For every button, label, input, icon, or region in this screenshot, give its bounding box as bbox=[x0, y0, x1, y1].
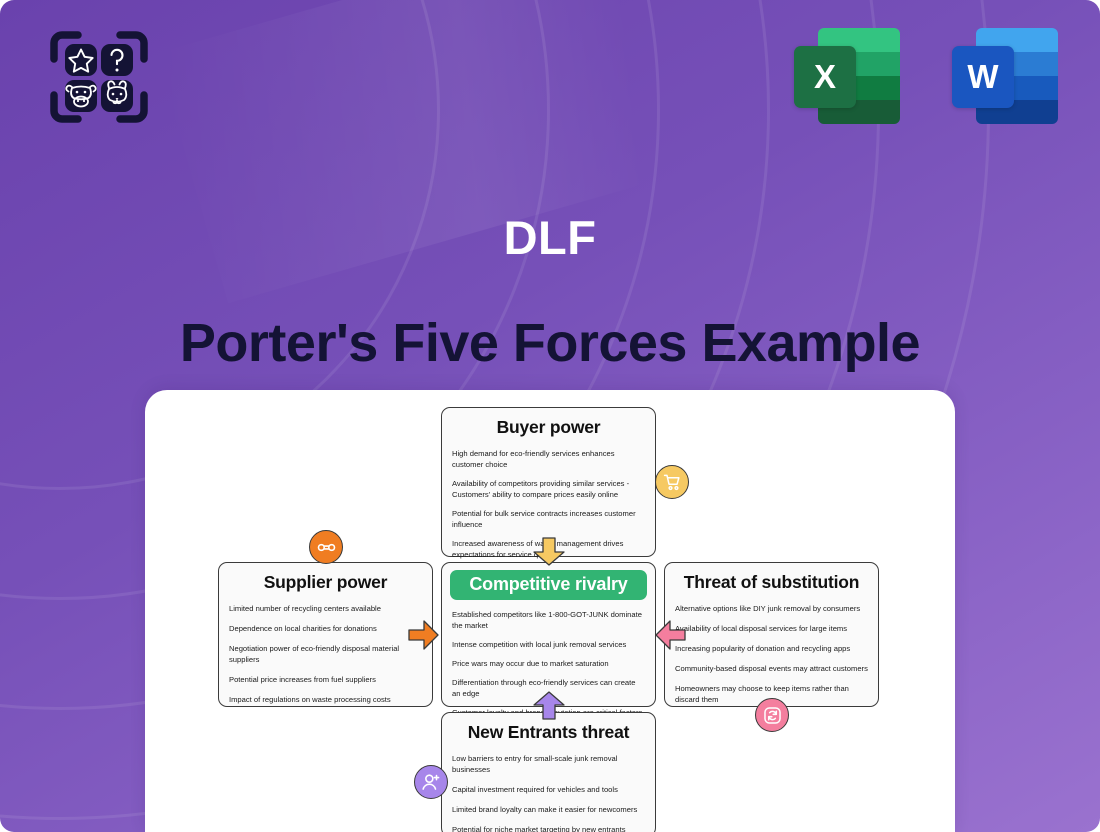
force-box-threat-of-substitution[interactable]: Threat of substitution Alternative optio… bbox=[664, 562, 879, 707]
list-item: Availability of competitors providing si… bbox=[452, 478, 645, 500]
arrow-supplier-to-rivalry-right bbox=[408, 619, 440, 656]
list-item: Availability of local disposal services … bbox=[675, 623, 868, 634]
list-item: Dependence on local charities for donati… bbox=[229, 623, 422, 634]
force-box-title: Buyer power bbox=[452, 417, 645, 438]
list-item: Community-based disposal events may attr… bbox=[675, 663, 868, 674]
shopping-cart-icon[interactable] bbox=[655, 465, 689, 499]
list-item: Alternative options like DIY junk remova… bbox=[675, 603, 868, 614]
porters-five-forces-diagram: Buyer power High demand for eco-friendly… bbox=[145, 390, 955, 832]
list-item: Established competitors like 1-800-GOT-J… bbox=[452, 609, 645, 631]
arrow-buyer-to-rivalry-down bbox=[532, 537, 566, 572]
quiz-grid-logo[interactable] bbox=[48, 29, 150, 125]
force-box-item-list: Alternative options like DIY junk remova… bbox=[675, 603, 868, 705]
list-item: Negotiation power of eco-friendly dispos… bbox=[229, 643, 422, 665]
list-item: Limited number of recycling centers avai… bbox=[229, 603, 422, 614]
supply-link-icon[interactable] bbox=[309, 530, 343, 564]
arrow-threat-to-rivalry-left bbox=[654, 619, 686, 656]
force-box-competitive-rivalry[interactable]: Competitive rivalry Established competit… bbox=[441, 562, 656, 707]
force-box-title: Threat of substitution bbox=[675, 572, 868, 593]
list-item: Potential price increases from fuel supp… bbox=[229, 674, 422, 685]
list-item: Capital investment required for vehicles… bbox=[452, 784, 645, 795]
force-box-title: New Entrants threat bbox=[452, 722, 645, 743]
list-item: Price wars may occur due to market satur… bbox=[452, 658, 645, 669]
arrow-entrants-to-rivalry-up bbox=[532, 690, 566, 725]
excel-icon[interactable]: X bbox=[794, 28, 900, 124]
brand-title: DLF bbox=[0, 210, 1100, 265]
force-box-supplier-power[interactable]: Supplier power Limited number of recycli… bbox=[218, 562, 433, 707]
list-item: High demand for eco-friendly services en… bbox=[452, 448, 645, 470]
export-format-icons: X W bbox=[794, 28, 1058, 124]
force-box-item-list: Limited number of recycling centers avai… bbox=[229, 603, 422, 705]
force-box-new-entrants-threat[interactable]: New Entrants threat Low barriers to entr… bbox=[441, 712, 656, 832]
force-box-buyer-power[interactable]: Buyer power High demand for eco-friendly… bbox=[441, 407, 656, 557]
excel-icon-letter: X bbox=[794, 46, 856, 108]
refresh-sync-icon[interactable] bbox=[755, 698, 789, 732]
list-item: Limited brand loyalty can make it easier… bbox=[452, 804, 645, 815]
list-item: Impact of regulations on waste processin… bbox=[229, 694, 422, 705]
force-box-title: Competitive rivalry bbox=[450, 570, 647, 600]
word-icon[interactable]: W bbox=[952, 28, 1058, 124]
list-item: Potential for niche market targeting by … bbox=[452, 824, 645, 832]
add-user-icon[interactable] bbox=[414, 765, 448, 799]
force-box-title: Supplier power bbox=[229, 572, 422, 593]
word-icon-letter: W bbox=[952, 46, 1014, 108]
list-item: Increasing popularity of donation and re… bbox=[675, 643, 868, 654]
list-item: Potential for bulk service contracts inc… bbox=[452, 508, 645, 530]
diagram-card: Buyer power High demand for eco-friendly… bbox=[145, 390, 955, 832]
force-box-item-list: Low barriers to entry for small-scale ju… bbox=[452, 753, 645, 832]
list-item: Low barriers to entry for small-scale ju… bbox=[452, 753, 645, 775]
list-item: Intense competition with local junk remo… bbox=[452, 639, 645, 650]
page-title: Porter's Five Forces Example bbox=[0, 312, 1100, 374]
slide-canvas: X W DLF Porter's Five Forces Example Buy… bbox=[0, 0, 1100, 832]
